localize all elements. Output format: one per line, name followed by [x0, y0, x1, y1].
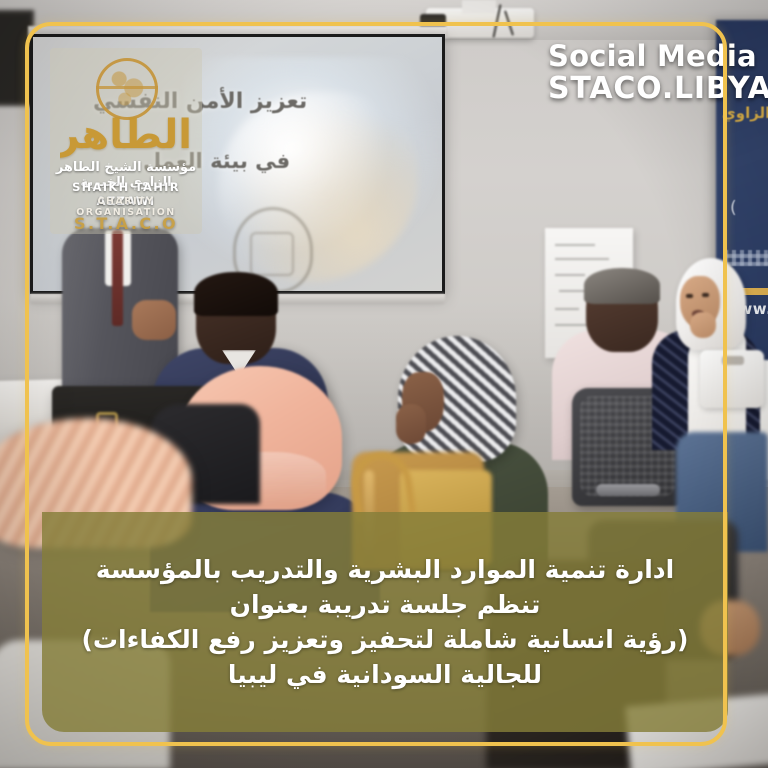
caption-line-1: ادارة تنمية الموارد البشرية والتدريب بال… [96, 553, 674, 586]
presenter-hands [132, 300, 176, 340]
caption-line-2: تنظم جلسة تدريبة بعنوان [230, 588, 541, 621]
attendee-pink-shirt-hair [584, 268, 660, 304]
woman-hand [690, 312, 716, 338]
woman-patterned-hijab-hand [396, 404, 426, 444]
banner-paren-text: ( [730, 198, 737, 218]
logo-acronym: S.T.A.C.O [50, 214, 202, 233]
logo-calligraphy: الطاهر [60, 106, 192, 166]
caption-line-4: للجالية السودانية في ليبيا [228, 658, 542, 691]
woman-eye-left [686, 294, 693, 298]
presenter-tie [112, 230, 123, 326]
caption-panel: ادارة تنمية الموارد البشرية والتدريب بال… [42, 512, 728, 732]
caption-line-3: (رؤية انسانية شاملة لتحفيز وتعزيز رفع ال… [82, 623, 689, 656]
wall-picture-frame [0, 10, 34, 106]
social-media-label: Social Media [548, 40, 768, 72]
social-media-header: Social Media STACO.LIBYA [548, 40, 768, 106]
banner-dot-pattern [724, 250, 768, 266]
globe-meridian-icon [96, 86, 158, 89]
banner-arabic-text: الزاوي [722, 104, 768, 122]
attendee-navy-suit-hair [194, 272, 278, 316]
office-chair-lumbar [596, 484, 660, 496]
projector-mount [462, 0, 496, 14]
poster-canvas: تعزيز الأمن النفسي في بيئة العمل الزاوي … [0, 0, 768, 768]
staco-logo: الطاهر مؤسسة الشيخ الطاهر الزاوي الخيرية… [50, 48, 202, 234]
social-media-handle: STACO.LIBYA [548, 72, 768, 106]
handbag-clasp [722, 356, 744, 365]
woman-eye-right [702, 293, 709, 297]
